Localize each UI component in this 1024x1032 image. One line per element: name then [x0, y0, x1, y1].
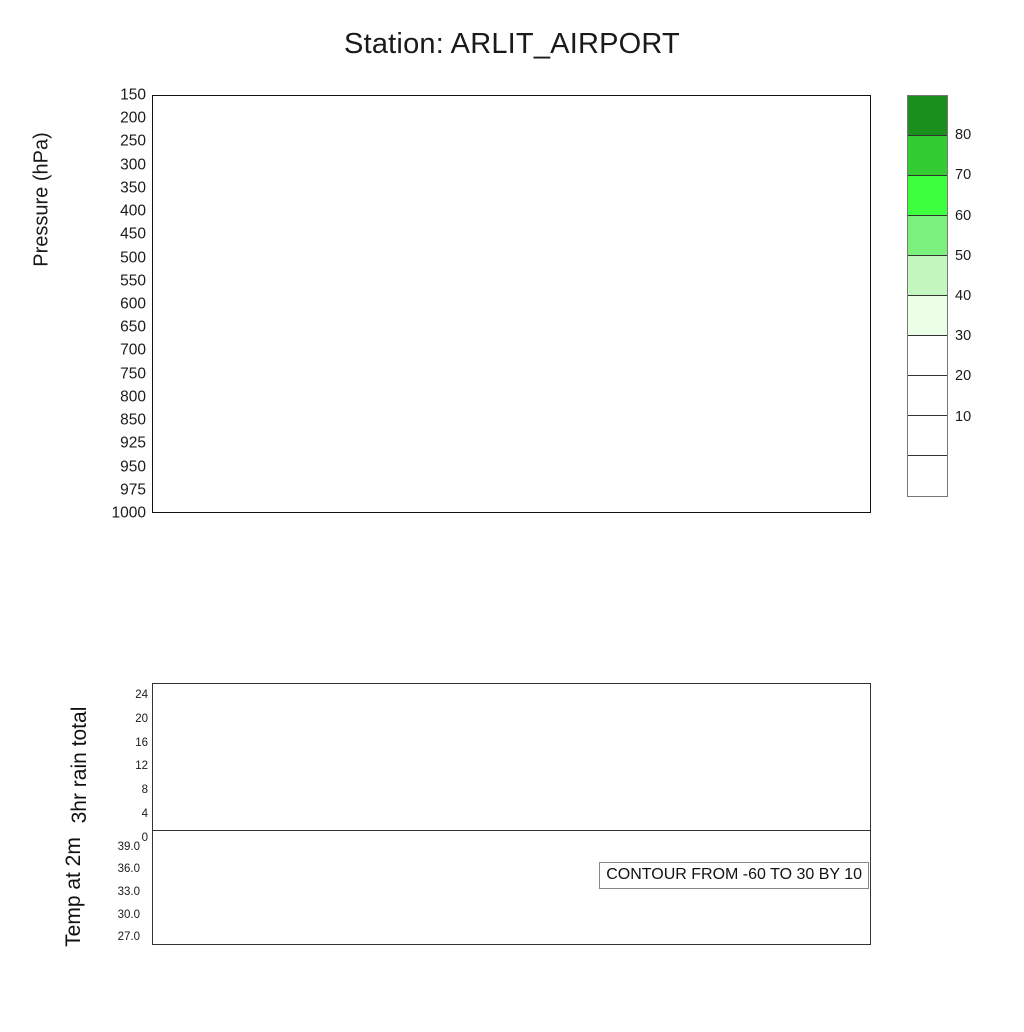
temp-panel[interactable]: CONTOUR FROM -60 TO 30 BY 10 — [152, 830, 871, 945]
main-y-tick: 450 — [120, 227, 146, 243]
colorbar-tick: 70 — [955, 167, 971, 183]
main-y-tick: 975 — [120, 482, 146, 498]
colorbar-band — [908, 416, 947, 456]
colorbar-band — [908, 96, 947, 136]
main-y-tick: 950 — [120, 459, 146, 475]
colorbar-tick: 10 — [955, 409, 971, 425]
rain-y-tick: 8 — [142, 784, 148, 796]
main-y-tick: 800 — [120, 389, 146, 405]
colorbar-tick: 40 — [955, 288, 971, 304]
colorbar-tick: 50 — [955, 248, 971, 264]
plot-root: Station: ARLIT_AIRPORT Pressure (hPa) 15… — [0, 0, 1024, 1024]
main-y-tick: 200 — [120, 110, 146, 126]
rain-panel[interactable] — [152, 683, 871, 838]
temp-y-tick-labels: 39.036.033.030.027.0 — [96, 830, 140, 945]
colorbar-band — [908, 296, 947, 336]
rain-y-tick: 0 — [142, 832, 148, 844]
rain-y-tick: 24 — [135, 689, 148, 701]
main-y-tick: 550 — [120, 273, 146, 289]
main-y-tick: 400 — [120, 203, 146, 219]
rain-y-tick: 12 — [135, 760, 148, 772]
temp-y-tick: 33.0 — [118, 886, 140, 898]
colorbar-tick: 80 — [955, 127, 971, 143]
main-y-tick: 350 — [120, 180, 146, 196]
colorbar-band — [908, 216, 947, 256]
colorbar-band — [908, 456, 947, 496]
colorbar[interactable] — [907, 95, 948, 497]
main-y-tick: 1000 — [112, 505, 146, 521]
cross-section-panel[interactable]: 3050201010105030301010505030103070707050… — [152, 95, 871, 513]
temp-y-tick: 36.0 — [118, 863, 140, 875]
colorbar-band — [908, 256, 947, 296]
colorbar-band — [908, 136, 947, 176]
rain-y-tick-labels: 24201612840 — [104, 683, 148, 838]
main-y-tick: 600 — [120, 296, 146, 312]
main-y-tick: 650 — [120, 319, 146, 335]
main-y-tick: 300 — [120, 157, 146, 173]
main-y-axis-title: Pressure (hPa) — [31, 50, 54, 350]
contour-annotation: CONTOUR FROM -60 TO 30 BY 10 — [599, 862, 869, 889]
page-title: Station: ARLIT_AIRPORT — [0, 28, 1024, 61]
temp-y-axis-title: Temp at 2m — [62, 752, 86, 1032]
temp-y-tick: 30.0 — [118, 909, 140, 921]
colorbar-band — [908, 336, 947, 376]
rain-y-tick: 4 — [142, 808, 148, 820]
temp-y-tick: 27.0 — [118, 931, 140, 943]
main-y-tick: 250 — [120, 134, 146, 150]
main-y-tick: 850 — [120, 412, 146, 428]
main-y-tick: 500 — [120, 250, 146, 266]
main-y-tick: 700 — [120, 343, 146, 359]
main-y-tick: 750 — [120, 366, 146, 382]
colorbar-tick: 30 — [955, 328, 971, 344]
main-y-tick: 925 — [120, 436, 146, 452]
rain-frame — [152, 683, 871, 838]
rain-y-tick: 20 — [135, 713, 148, 725]
rain-y-tick: 16 — [135, 737, 148, 749]
colorbar-tick-labels: 8070605040302010 — [955, 95, 1005, 497]
cross-section-frame — [152, 95, 871, 513]
colorbar-band — [908, 376, 947, 416]
temp-y-tick: 39.0 — [118, 841, 140, 853]
colorbar-band — [908, 176, 947, 216]
main-y-tick-labels: 1502002503003504004505005506006507007508… — [100, 95, 146, 513]
colorbar-tick: 20 — [955, 368, 971, 384]
main-y-tick: 150 — [120, 87, 146, 103]
colorbar-tick: 60 — [955, 208, 971, 224]
